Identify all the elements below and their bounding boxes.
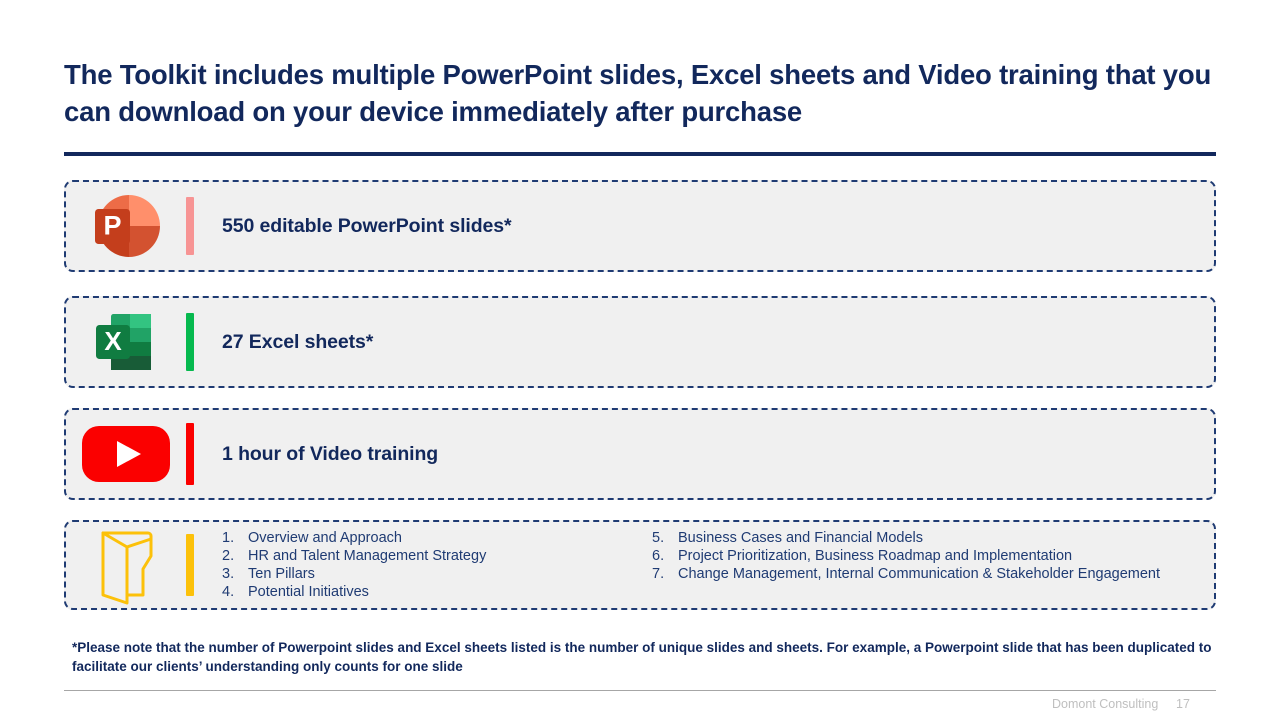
list-item: 1. Overview and Approach	[222, 530, 652, 548]
title-block: The Toolkit includes multiple PowerPoint…	[64, 56, 1216, 131]
topics-lists: 1. Overview and Approach 2. HR and Talen…	[222, 528, 1214, 601]
card-excel[interactable]: X 27 Excel sheets*	[64, 296, 1216, 388]
card-video-label: 1 hour of Video training	[222, 443, 438, 466]
list-item: 3. Ten Pillars	[222, 566, 652, 584]
slide: The Toolkit includes multiple PowerPoint…	[0, 0, 1280, 720]
excel-icon: X	[87, 303, 165, 381]
accent-bar-powerpoint	[186, 197, 194, 255]
list-item: 4. Potential Initiatives	[222, 584, 652, 602]
list-item-number: 1.	[222, 530, 248, 548]
list-item-number: 3.	[222, 566, 248, 584]
list-item-number: 2.	[222, 548, 248, 566]
topics-column-left: 1. Overview and Approach 2. HR and Talen…	[222, 530, 652, 601]
list-item: 6. Project Prioritization, Business Road…	[652, 548, 1212, 566]
card-excel-label: 27 Excel sheets*	[222, 331, 373, 354]
list-item-label: Business Cases and Financial Models	[678, 530, 923, 548]
list-item-number: 5.	[652, 530, 678, 548]
list-item-label: Overview and Approach	[248, 530, 402, 548]
svg-text:X: X	[104, 326, 122, 356]
youtube-icon-slot	[66, 420, 186, 488]
folder-icon	[90, 525, 162, 605]
list-item-number: 7.	[652, 566, 678, 584]
list-item-number: 4.	[222, 584, 248, 602]
accent-bar-topics	[186, 534, 194, 596]
svg-text:P: P	[103, 211, 121, 241]
footer-divider	[64, 690, 1216, 691]
list-item: 5. Business Cases and Financial Models	[652, 530, 1212, 548]
footnote: *Please note that the number of Powerpoi…	[72, 638, 1218, 676]
title-divider	[64, 152, 1216, 156]
list-item-label: Potential Initiatives	[248, 584, 369, 602]
list-item-label: Project Prioritization, Business Roadmap…	[678, 548, 1072, 566]
excel-icon-slot: X	[66, 303, 186, 381]
card-video[interactable]: 1 hour of Video training	[64, 408, 1216, 500]
list-item-number: 6.	[652, 548, 678, 566]
card-powerpoint[interactable]: P 550 editable PowerPoint slides*	[64, 180, 1216, 272]
footer-company: Domont Consulting	[1052, 697, 1158, 711]
accent-bar-excel	[186, 313, 194, 371]
powerpoint-icon-slot: P	[66, 187, 186, 265]
footer-page-number: 17	[1176, 697, 1190, 711]
youtube-icon	[78, 420, 174, 488]
topics-column-right: 5. Business Cases and Financial Models 6…	[652, 530, 1212, 583]
list-item-label: Change Management, Internal Communicatio…	[678, 566, 1160, 584]
powerpoint-icon: P	[87, 187, 165, 265]
accent-bar-video	[186, 423, 194, 485]
card-topics[interactable]: 1. Overview and Approach 2. HR and Talen…	[64, 520, 1216, 610]
list-item: 2. HR and Talent Management Strategy	[222, 548, 652, 566]
card-powerpoint-label: 550 editable PowerPoint slides*	[222, 215, 512, 238]
folder-icon-slot	[66, 525, 186, 605]
list-item-label: Ten Pillars	[248, 566, 315, 584]
list-item-label: HR and Talent Management Strategy	[248, 548, 486, 566]
list-item: 7. Change Management, Internal Communica…	[652, 566, 1212, 584]
page-title: The Toolkit includes multiple PowerPoint…	[64, 56, 1216, 131]
